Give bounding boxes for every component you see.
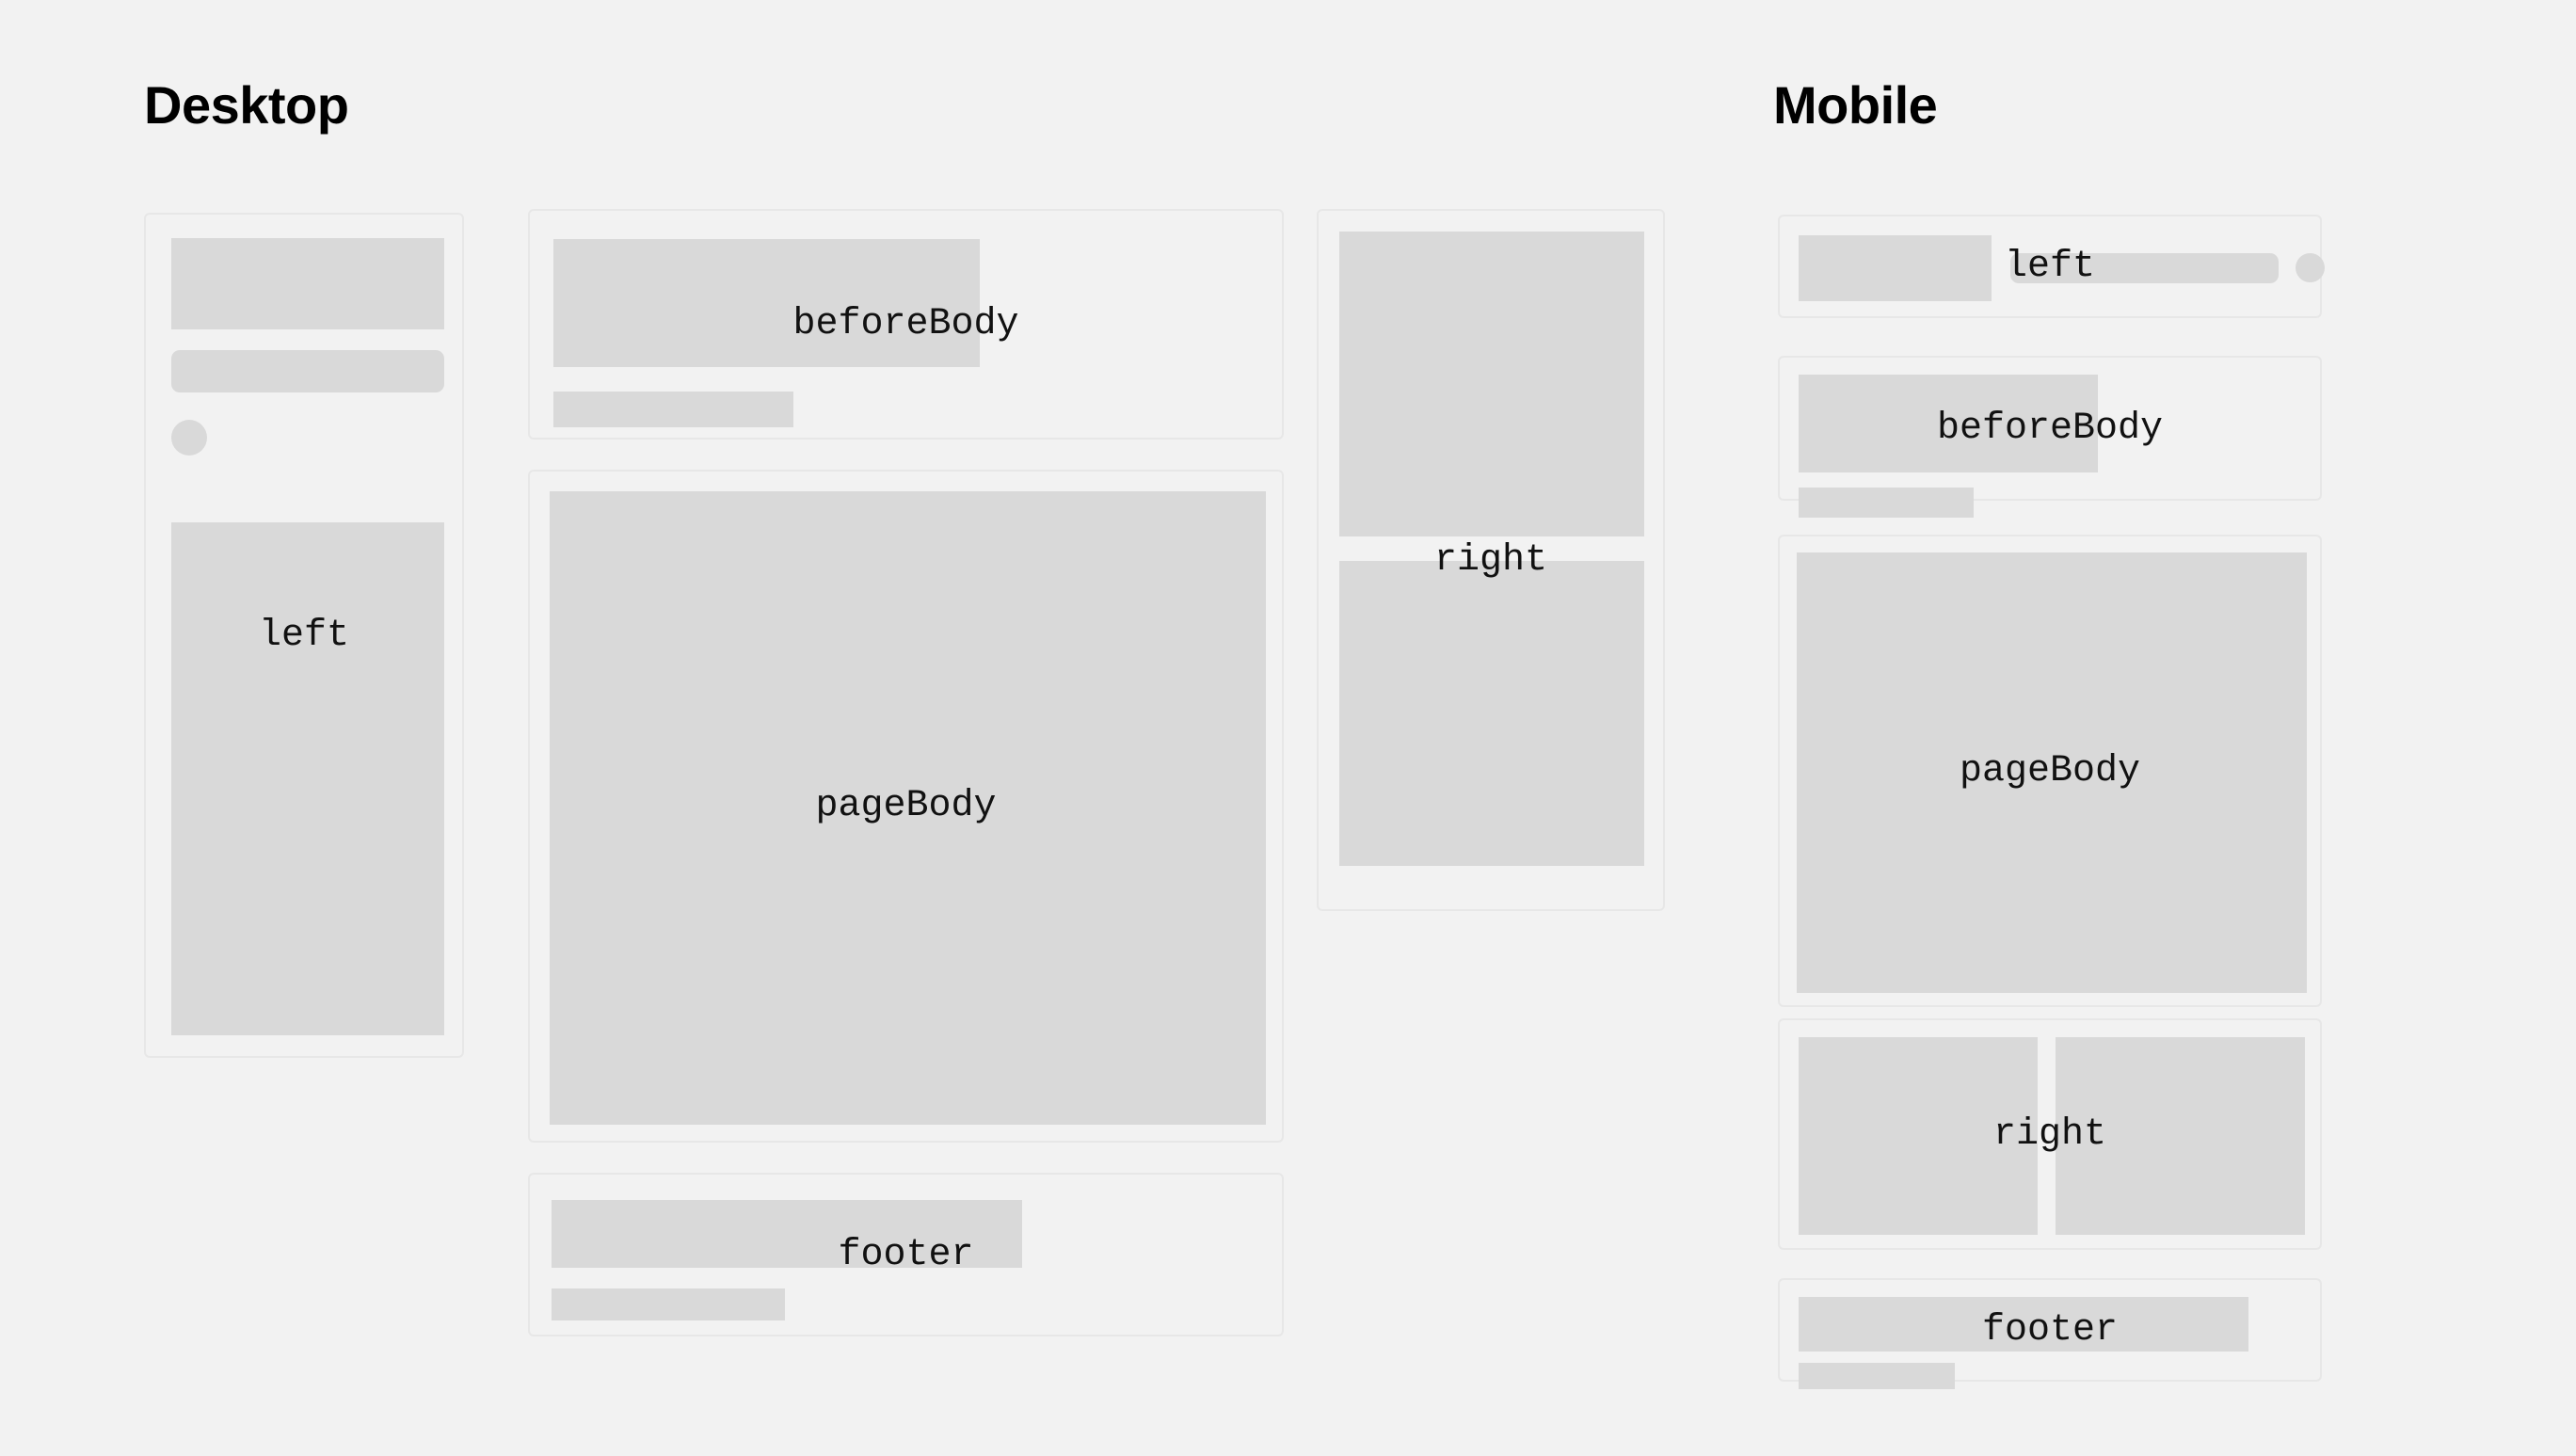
placeholder-block [171,522,444,1035]
desktop-footer-region-panel[interactable] [528,1173,1284,1336]
mobile-footer-region-panel[interactable] [1778,1278,2322,1382]
desktop-section-title: Desktop [144,79,348,132]
placeholder-bar [552,1288,785,1320]
mobile-right-region-panel[interactable] [1778,1018,2322,1250]
placeholder-avatar-circle [171,420,207,456]
placeholder-bar [171,350,444,392]
placeholder-block [553,239,980,367]
placeholder-bar [1799,1363,1955,1389]
placeholder-bar [1799,488,1974,518]
placeholder-block [2056,1037,2305,1235]
placeholder-block [1797,552,2307,993]
placeholder-bar [553,392,793,427]
placeholder-block [1799,235,1992,301]
placeholder-block [550,491,1266,1125]
placeholder-block [1339,561,1644,866]
mobile-beforebody-region-panel[interactable] [1778,356,2322,501]
mobile-section-title: Mobile [1773,79,1937,132]
placeholder-block [1339,232,1644,536]
placeholder-block [1799,1037,2038,1235]
mobile-pagebody-region-panel[interactable] [1778,535,2322,1007]
desktop-left-region-panel[interactable] [144,213,464,1058]
placeholder-block [552,1200,1022,1268]
placeholder-bar [2010,253,2279,283]
desktop-pagebody-region-panel[interactable] [528,470,1284,1143]
placeholder-block [1799,1297,2248,1352]
mobile-left-region-panel[interactable] [1778,215,2322,318]
desktop-beforebody-region-panel[interactable] [528,209,1284,440]
placeholder-avatar-circle [2296,253,2325,282]
placeholder-block [171,238,444,329]
placeholder-block [1799,375,2098,472]
layout-preview-page: { "page": { "background_color": "#f2f2f2… [0,0,2576,1456]
desktop-right-region-panel[interactable] [1317,209,1665,911]
